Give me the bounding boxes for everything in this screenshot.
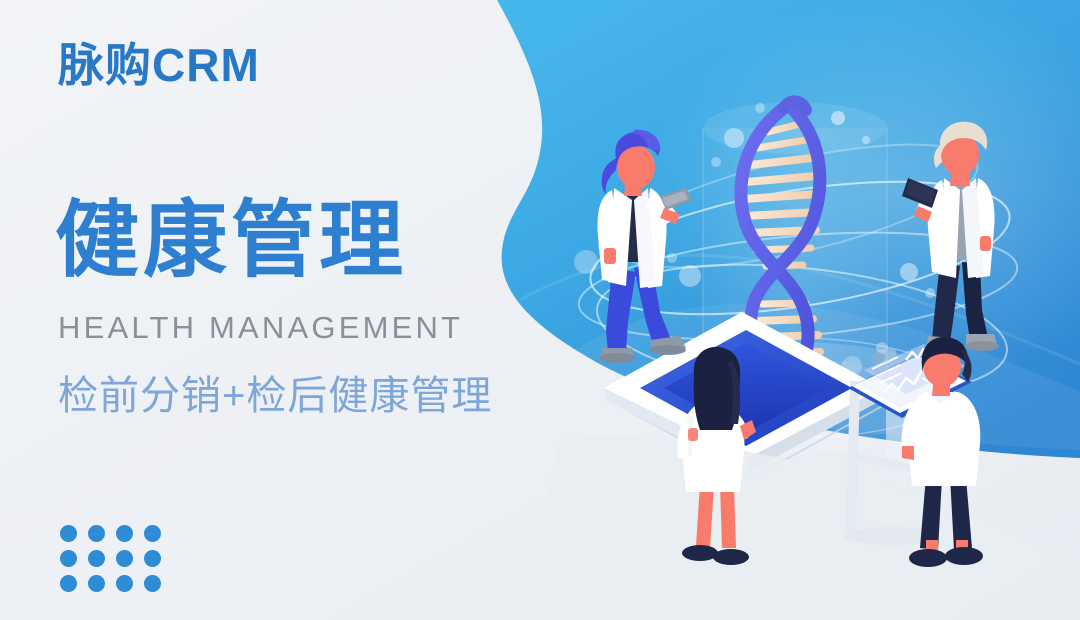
dot bbox=[116, 550, 133, 567]
dot bbox=[116, 575, 133, 592]
dot bbox=[60, 575, 77, 592]
dot bbox=[144, 575, 161, 592]
doctor-female-tablet bbox=[598, 130, 692, 363]
dot bbox=[144, 525, 161, 542]
health-management-banner: 脉购CRM 健康管理 HEALTH MANAGEMENT 检前分销+检后健康管理 bbox=[0, 0, 1080, 620]
subtitle-english: HEALTH MANAGEMENT bbox=[58, 312, 463, 343]
subtitle-chinese: 检前分销+检后健康管理 bbox=[58, 372, 492, 420]
dot bbox=[60, 525, 77, 542]
dot bbox=[116, 525, 133, 542]
dot bbox=[88, 550, 105, 567]
dot bbox=[88, 575, 105, 592]
floor-shadow bbox=[520, 437, 1080, 620]
brand-logo[interactable]: 脉购CRM bbox=[58, 42, 260, 88]
dot-grid bbox=[60, 525, 172, 600]
page-title: 健康管理 bbox=[55, 196, 407, 284]
dot bbox=[88, 525, 105, 542]
dot bbox=[60, 550, 77, 567]
dot bbox=[144, 550, 161, 567]
